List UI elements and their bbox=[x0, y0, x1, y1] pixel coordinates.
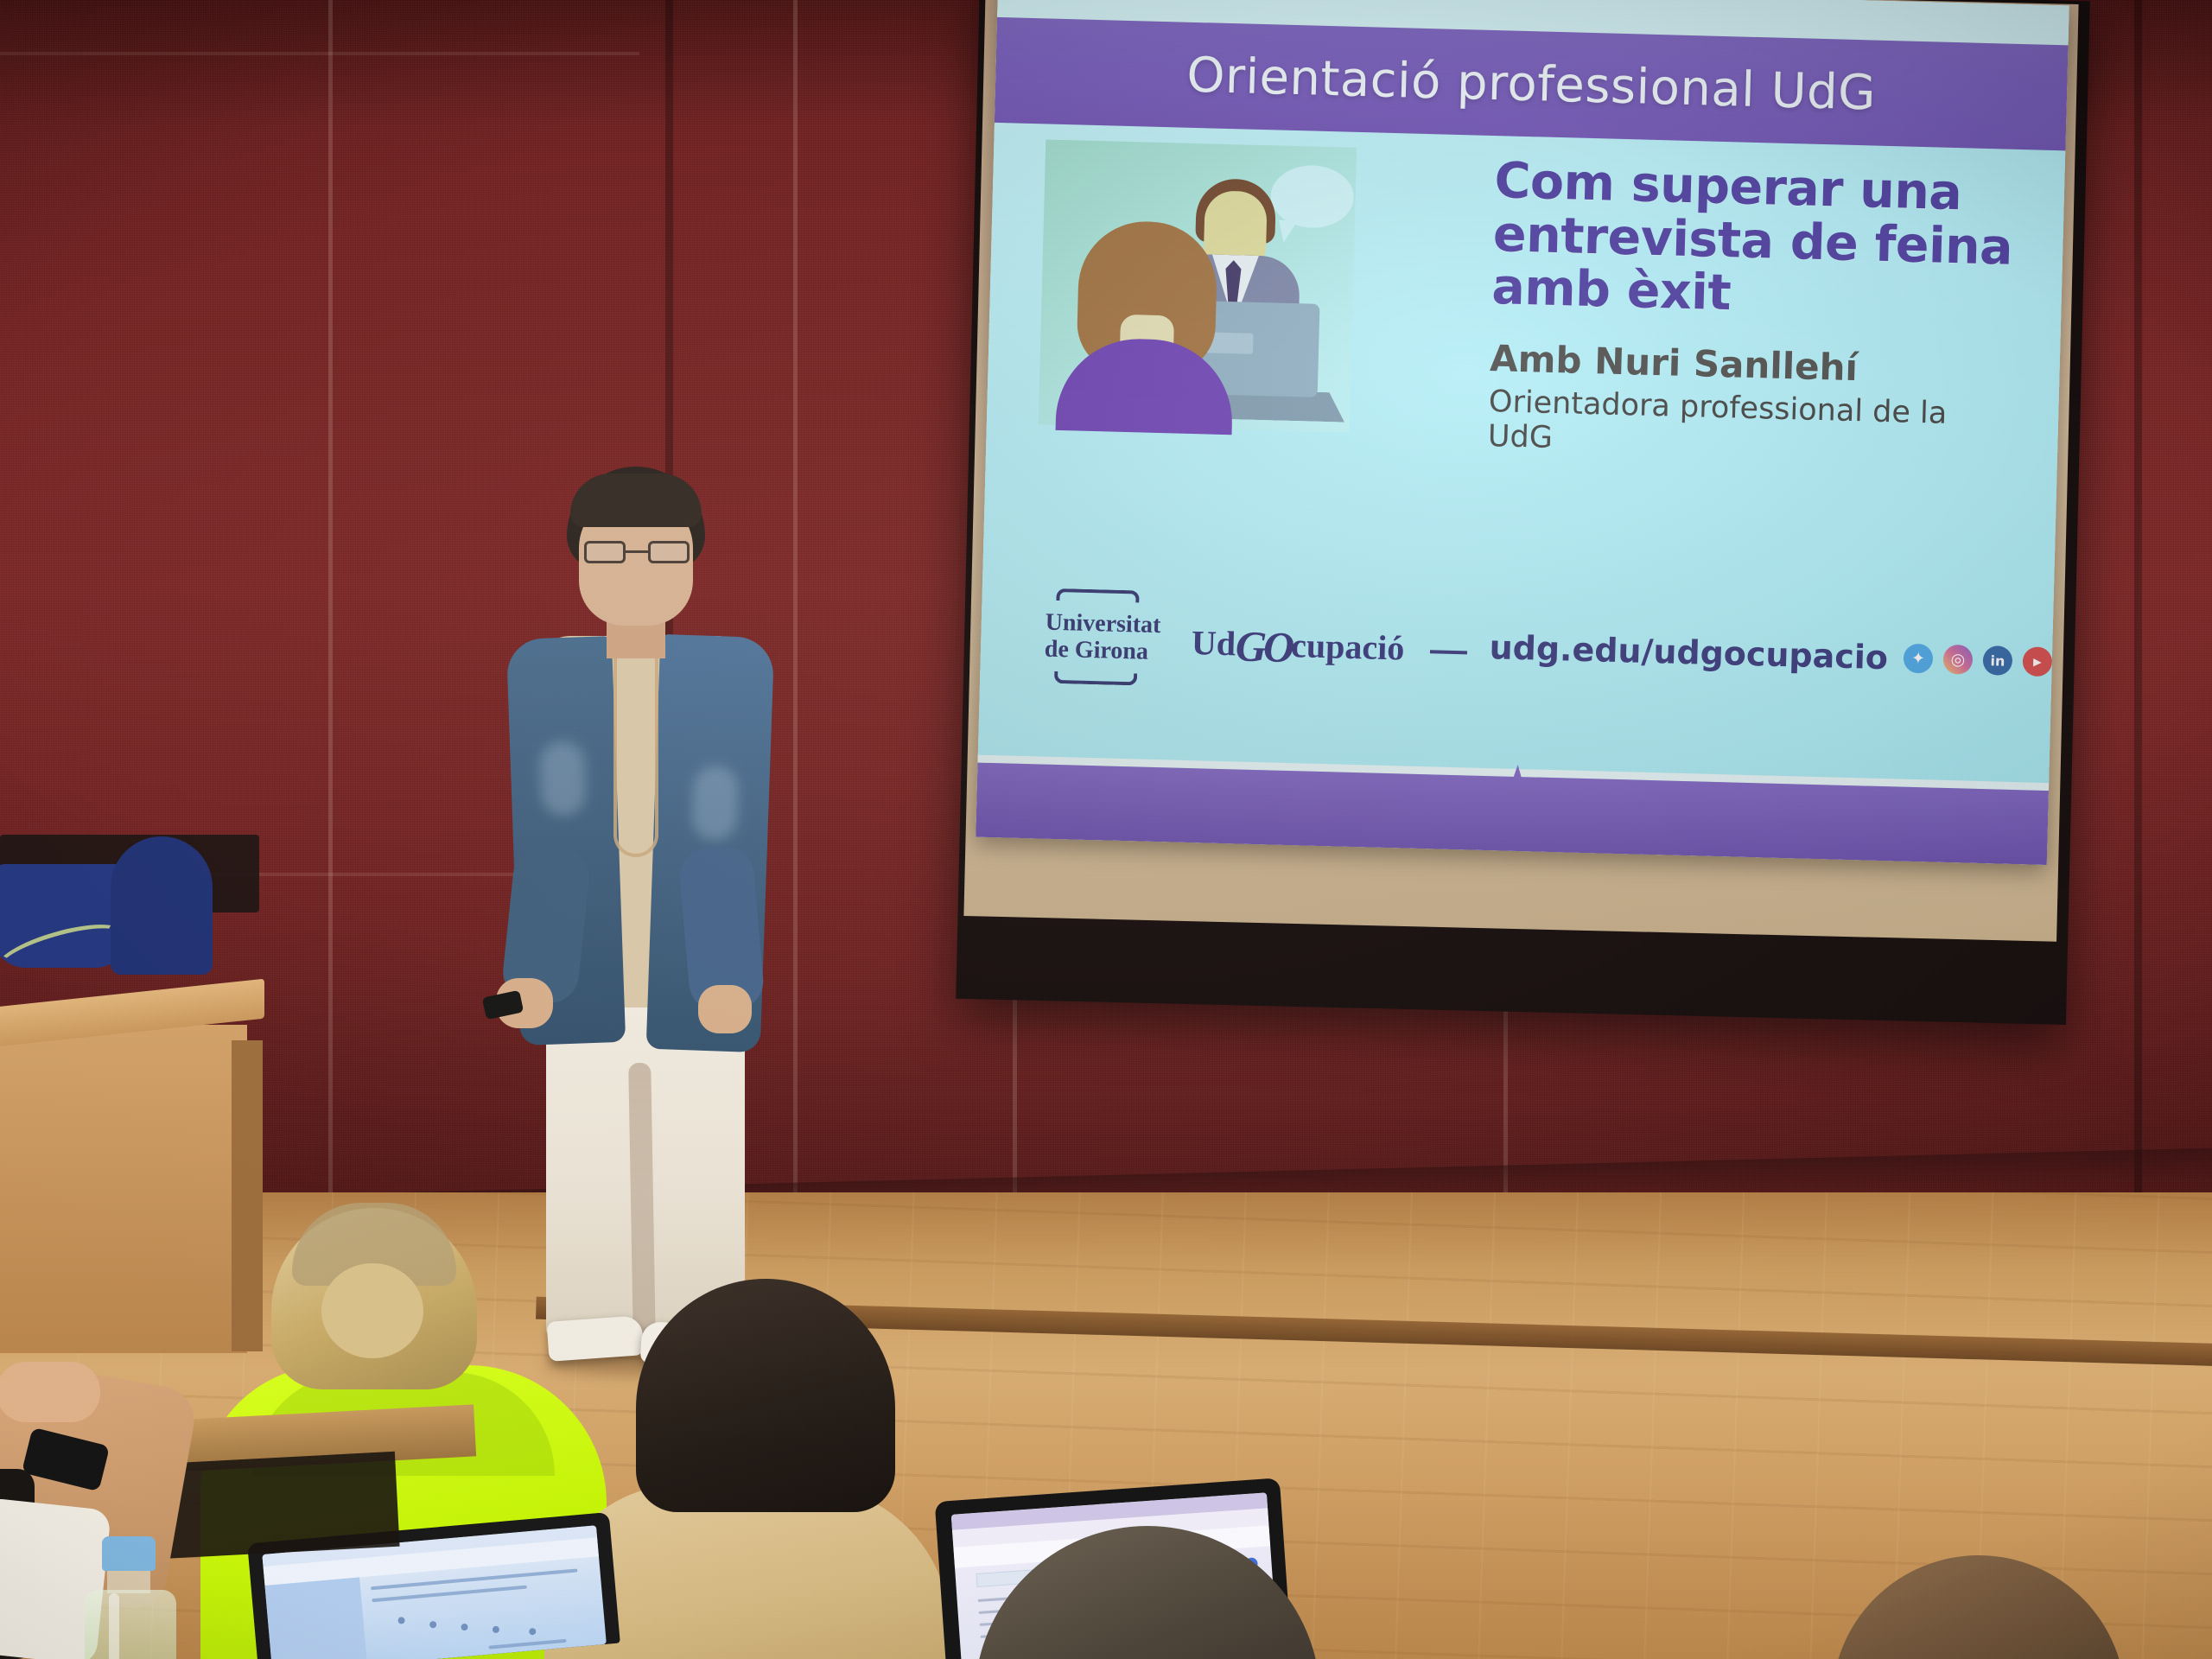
glasses-icon bbox=[584, 541, 690, 563]
foreground-head-hair bbox=[975, 1526, 1320, 1659]
right-edge-student-hair bbox=[1832, 1555, 2126, 1659]
logo-line-1: Universitat bbox=[1045, 608, 1161, 639]
linkedin-icon: in bbox=[1982, 645, 2012, 676]
slide-heading: Com superar una entrevista de feina amb … bbox=[1491, 155, 2025, 328]
social-icons: ✦ ◎ in ▸ bbox=[1904, 644, 2053, 677]
logo-bracket-top-icon bbox=[1056, 588, 1139, 603]
slide-speaker-name: Amb Nuri Sanllehí bbox=[1490, 337, 2021, 393]
twitter-icon: ✦ bbox=[1904, 644, 1934, 674]
footer-url: udg.edu/udgocupacio bbox=[1489, 628, 1888, 677]
foreground-hand bbox=[0, 1362, 100, 1422]
blonde-student-ponytail bbox=[321, 1263, 423, 1358]
lecture-hall-photo: Orientació professional UdG bbox=[0, 0, 2212, 1659]
slide-body: Com superar una entrevista de feina amb … bbox=[982, 123, 2065, 634]
glasses-lens-left bbox=[584, 541, 626, 563]
glasses-bridge bbox=[626, 550, 648, 553]
logo-bracket-bottom-icon bbox=[1054, 671, 1137, 686]
instagram-icon: ◎ bbox=[1943, 645, 1974, 675]
content-bullet bbox=[429, 1621, 437, 1629]
content-bullet bbox=[493, 1626, 500, 1634]
water-bottle bbox=[83, 1536, 178, 1659]
slide-speaker-role: Orientadora professional de la UdG bbox=[1487, 385, 2018, 467]
slide-banner-title: Orientació professional UdG bbox=[1186, 47, 1877, 121]
list-item bbox=[605, 1279, 976, 1659]
speech-bubble-icon bbox=[1270, 164, 1355, 228]
list-item bbox=[975, 1526, 1320, 1659]
presenter-necklace bbox=[613, 650, 658, 857]
presenter-fringe bbox=[570, 474, 702, 527]
content-bullet bbox=[397, 1617, 405, 1624]
logo-suffix: cupació bbox=[1291, 626, 1405, 667]
slide-text-column: Com superar una entrevista de feina amb … bbox=[1474, 136, 2065, 634]
logo-prefix: Ud bbox=[1191, 623, 1236, 663]
blue-chair bbox=[111, 836, 213, 975]
slide-background: Orientació professional UdG bbox=[976, 0, 2069, 865]
content-bullet bbox=[461, 1624, 468, 1631]
bottle-body bbox=[85, 1590, 176, 1659]
footer-rule bbox=[1430, 650, 1466, 654]
glasses-lens-right bbox=[648, 541, 690, 563]
projected-slide: Orientació professional UdG bbox=[976, 0, 2069, 865]
bottle-neck bbox=[107, 1567, 150, 1593]
jacket-highlight bbox=[691, 765, 739, 841]
lectern-front bbox=[0, 1025, 247, 1353]
list-item bbox=[1832, 1555, 2126, 1659]
universitat-de-girona-logo: Universitat de Girona bbox=[1044, 608, 1160, 665]
presenter-hand-right bbox=[698, 985, 752, 1033]
content-bullet bbox=[529, 1628, 537, 1636]
logo-line-2: de Girona bbox=[1044, 636, 1160, 666]
dark-haired-student-hair bbox=[636, 1279, 895, 1512]
bottle-highlight bbox=[109, 1593, 119, 1659]
job-interview-illustration bbox=[1039, 139, 1357, 432]
udgocupacio-logo: UdGOcupació bbox=[1191, 614, 1405, 670]
app-sidebar bbox=[264, 1577, 366, 1659]
jacket-highlight bbox=[539, 741, 587, 817]
content-row bbox=[489, 1639, 567, 1649]
logo-go: GO bbox=[1235, 621, 1292, 671]
youtube-icon: ▸ bbox=[2022, 646, 2052, 677]
bottle-cap bbox=[102, 1536, 156, 1571]
slide-illustration-column bbox=[982, 123, 1487, 620]
